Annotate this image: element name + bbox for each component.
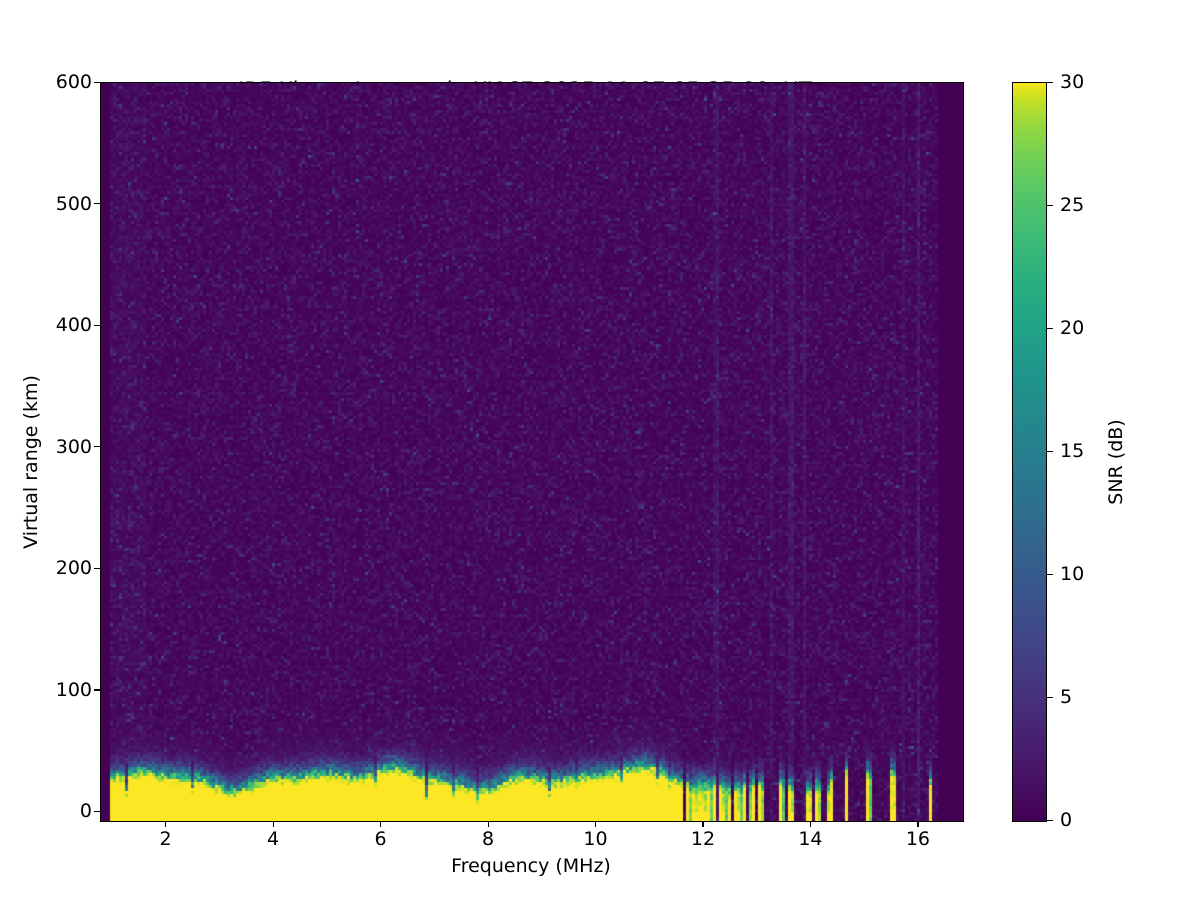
x-tick-mark (380, 821, 381, 827)
colorbar-tick-label: 10 (1060, 563, 1084, 585)
x-tick-mark (165, 821, 166, 827)
y-tick-label: 600 (56, 71, 92, 93)
y-tick-mark (94, 568, 100, 569)
x-tick-label: 2 (160, 828, 172, 850)
y-tick-mark (94, 689, 100, 690)
y-tick-label: 300 (56, 436, 92, 458)
y-tick-label: 200 (56, 557, 92, 579)
x-axis-label: Frequency (MHz) (100, 855, 962, 877)
ionogram-heatmap[interactable] (101, 83, 963, 821)
y-tick-mark (94, 446, 100, 447)
y-tick-mark (94, 325, 100, 326)
colorbar-tick-label: 25 (1060, 194, 1084, 216)
y-tick-mark (94, 203, 100, 204)
ionogram-figure: IRF Kiruna Ionosonde KI167 2025-11-07 05… (0, 0, 1200, 900)
y-tick-label: 0 (80, 800, 92, 822)
colorbar-tick-mark (1047, 82, 1053, 83)
x-tick-label: 4 (267, 828, 279, 850)
colorbar-tick-mark (1047, 205, 1053, 206)
x-tick-label: 6 (374, 828, 386, 850)
x-tick-label: 16 (906, 828, 930, 850)
colorbar-tick-label: 0 (1060, 809, 1072, 831)
x-tick-label: 10 (583, 828, 607, 850)
y-tick-label: 400 (56, 314, 92, 336)
x-tick-mark (917, 821, 918, 827)
x-tick-label: 8 (482, 828, 494, 850)
colorbar-tick-label: 20 (1060, 317, 1084, 339)
x-tick-mark (702, 821, 703, 827)
y-tick-label: 500 (56, 193, 92, 215)
x-tick-mark (595, 821, 596, 827)
x-tick-mark (488, 821, 489, 827)
colorbar-tick-mark (1047, 451, 1053, 452)
x-tick-mark (273, 821, 274, 827)
plot-area[interactable] (100, 82, 964, 822)
y-tick-mark (94, 811, 100, 812)
colorbar-tick-mark (1047, 697, 1053, 698)
y-tick-label: 100 (56, 679, 92, 701)
colorbar-tick-label: 5 (1060, 686, 1072, 708)
x-tick-label: 12 (691, 828, 715, 850)
y-tick-mark (94, 82, 100, 83)
colorbar-tick-label: 30 (1060, 71, 1084, 93)
y-axis-label: Virtual range (km) (20, 262, 42, 662)
x-tick-mark (810, 821, 811, 827)
x-tick-label: 14 (798, 828, 822, 850)
colorbar[interactable] (1012, 82, 1047, 822)
colorbar-tick-label: 15 (1060, 440, 1084, 462)
colorbar-tick-mark (1047, 574, 1053, 575)
colorbar-label: SNR (dB) (1105, 262, 1127, 662)
colorbar-tick-mark (1047, 820, 1053, 821)
colorbar-tick-mark (1047, 328, 1053, 329)
